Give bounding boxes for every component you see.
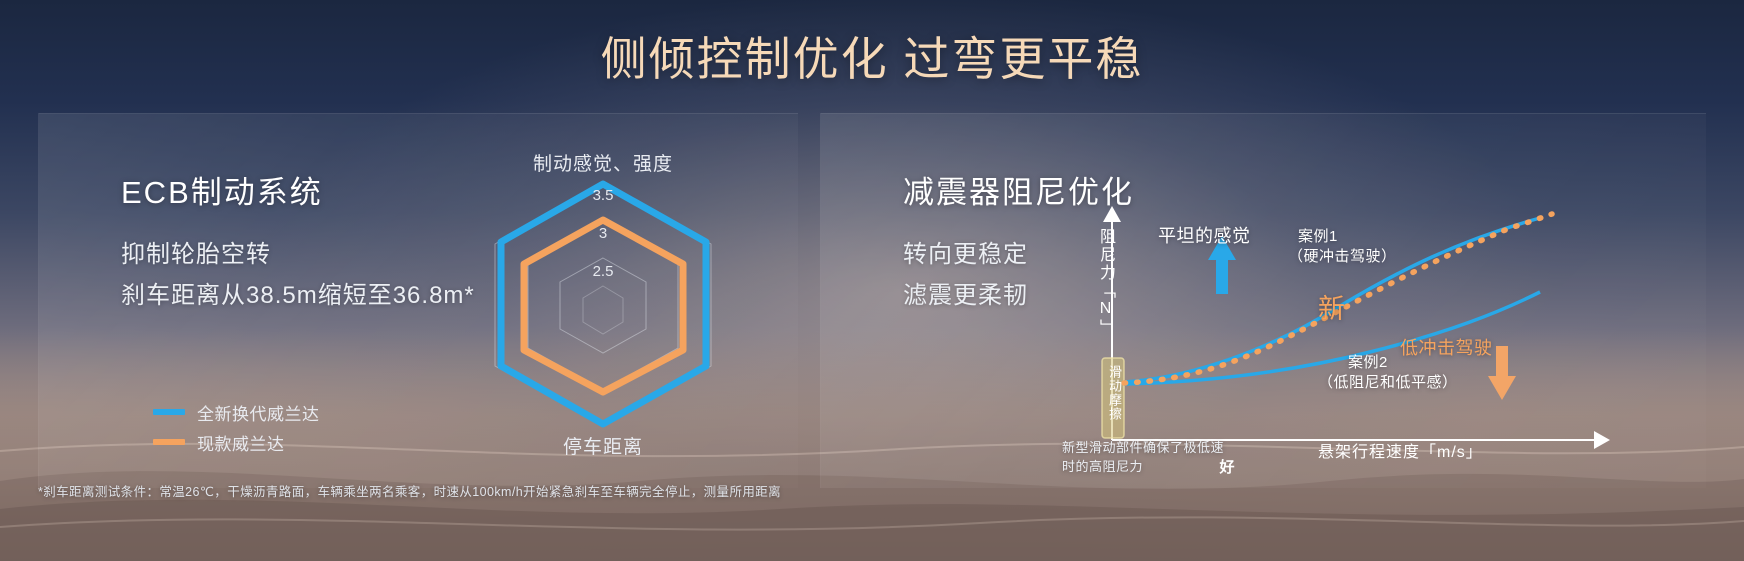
new-curve-label: 新 — [1318, 287, 1346, 326]
case1-sub-label: （硬冲击驾驶） — [1288, 246, 1397, 267]
flat-feel-label: 平坦的感觉 — [1158, 222, 1251, 248]
legend-swatch-blue-icon — [153, 409, 185, 415]
radar-axis-label-bottom: 停车距离 — [438, 432, 768, 459]
friction-label: 滑动摩擦 — [1105, 365, 1124, 421]
radar-legend: 全新换代威兰达 现款威兰达 — [153, 400, 320, 460]
right-panel-line-2: 滤震更柔韧 — [903, 275, 1028, 310]
radar-svg: 3.5 3 2.5 — [438, 176, 768, 432]
legend-item-current: 现款威兰达 — [153, 430, 320, 454]
slide-note-line-1: 新型滑动部件确保了极低速 — [1062, 438, 1224, 457]
legend-swatch-orange-icon — [153, 439, 185, 445]
radar-chart: 制动感觉、强度 停车距离 3.5 3 2.5 — [438, 150, 768, 460]
y-axis-label: 阻尼力「N」 — [1093, 228, 1117, 337]
good-up-label: 好 — [1210, 456, 1244, 477]
radar-series-current — [524, 220, 683, 392]
left-panel-heading: ECB制动系统 — [121, 167, 323, 212]
left-panel-line-1: 抑制轮胎空转 — [121, 234, 271, 269]
x-axis-label: 悬架行程速度「m/s」 — [1318, 438, 1483, 462]
radar-tick-3-5: 3.5 — [593, 187, 614, 204]
footnote: *刹车距离测试条件：常温26℃，干燥沥青路面，车辆乘坐两名乘客，时速从100km… — [38, 481, 781, 500]
legend-label-new: 全新换代威兰达 — [197, 400, 320, 425]
case1-label: 案例1 — [1298, 226, 1338, 247]
page-title: 侧倾控制优化 过弯更平稳 — [0, 33, 1744, 85]
legend-label-current: 现款威兰达 — [197, 430, 285, 455]
slide-stage: 侧倾控制优化 过弯更平稳 ECB制动系统 抑制轮胎空转 刹车距离从38.5m缩短… — [0, 0, 1744, 561]
slide-note-line-2: 时的高阻尼力 — [1062, 457, 1143, 476]
left-panel-line-2: 刹车距离从38.5m缩短至36.8m* — [121, 275, 475, 310]
legend-item-new: 全新换代威兰达 — [153, 400, 320, 424]
radar-tick-3: 3 — [599, 225, 607, 242]
case2-label: 案例2 — [1348, 352, 1388, 373]
case2-sub-label: （低阻尼和低平感） — [1318, 372, 1458, 393]
right-panel-line-1: 转向更稳定 — [903, 234, 1028, 269]
low-impact-label: 低冲击驾驶 — [1400, 334, 1493, 360]
radar-tick-2-5: 2.5 — [593, 263, 614, 280]
radar-axis-label-top: 制动感觉、强度 — [438, 149, 768, 176]
